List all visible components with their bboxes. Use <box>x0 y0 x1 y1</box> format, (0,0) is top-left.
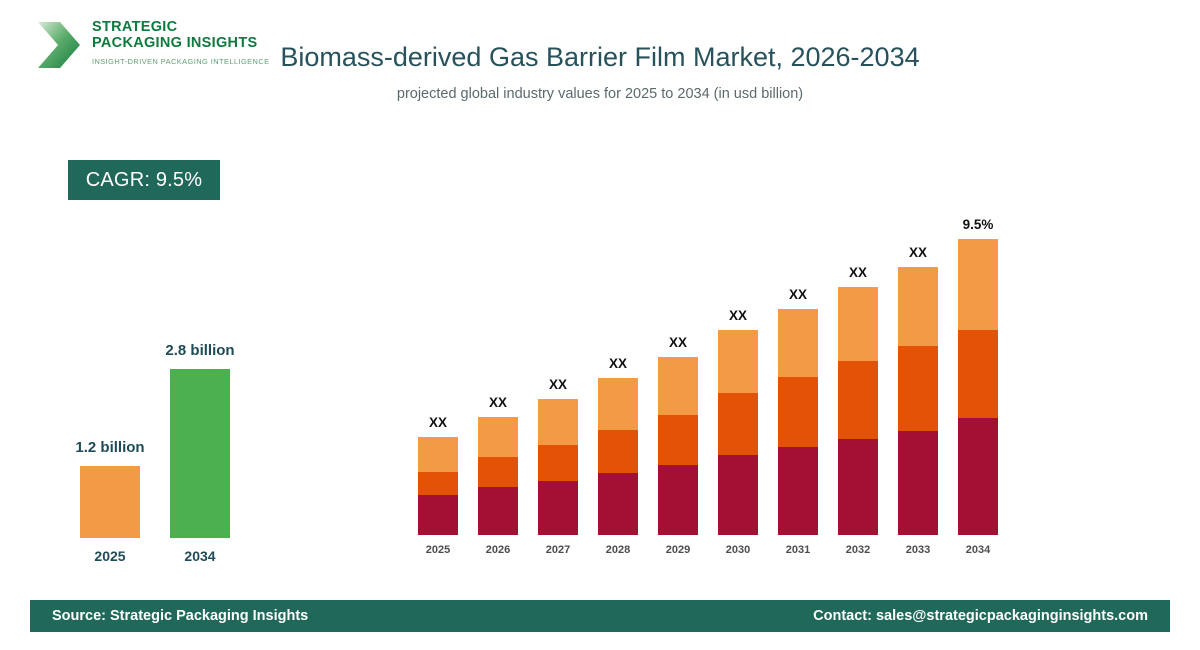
cagr-badge: CAGR: 9.5% <box>68 160 220 200</box>
stacked-bar-segment[interactable] <box>538 481 578 535</box>
comparison-value-label: 1.2 billion <box>40 439 180 456</box>
stacked-bar-segment[interactable] <box>958 418 998 535</box>
stacked-bar-segment[interactable] <box>598 430 638 473</box>
stacked-bar-segment[interactable] <box>478 417 518 457</box>
comparison-column <box>80 466 140 538</box>
stacked-bar-segment[interactable] <box>718 393 758 455</box>
stacked-bar-segment[interactable] <box>958 330 998 418</box>
page-title: Biomass-derived Gas Barrier Film Market,… <box>230 38 970 76</box>
stacked-bar-segment[interactable] <box>658 415 698 465</box>
stacked-bar-value-label: XX <box>468 395 528 410</box>
stacked-bar-year-label: 2032 <box>835 544 881 556</box>
stacked-bar-segment[interactable] <box>478 457 518 487</box>
stacked-bar-value-label: XX <box>648 335 708 350</box>
chevron-right-logo-icon <box>30 18 86 72</box>
comparison-bar[interactable] <box>80 466 140 538</box>
comparison-value-label: 2.8 billion <box>130 342 270 359</box>
stacked-bar-segment[interactable] <box>778 447 818 535</box>
stacked-bar-value-label: XX <box>828 265 888 280</box>
footer-bar: Source: Strategic Packaging Insights Con… <box>30 600 1170 632</box>
stacked-bar-chart: XX2025XX2026XX2027XX2028XX2029XX2030XX20… <box>400 200 1020 560</box>
stacked-bar-segment[interactable] <box>838 361 878 439</box>
stacked-bar-year-label: 2027 <box>535 544 581 556</box>
footer-contact: Contact: sales@strategicpackaginginsight… <box>813 600 1148 632</box>
stacked-bar-year-label: 2029 <box>655 544 701 556</box>
stacked-bar[interactable] <box>718 330 758 535</box>
stacked-bar-segment[interactable] <box>718 455 758 535</box>
stacked-bar-segment[interactable] <box>958 239 998 330</box>
stacked-bar-value-label: XX <box>588 356 648 371</box>
stacked-bar-segment[interactable] <box>538 399 578 445</box>
stacked-bar-value-label: XX <box>708 308 768 323</box>
stacked-bar-segment[interactable] <box>838 439 878 535</box>
footer-source: Source: Strategic Packaging Insights <box>52 600 308 632</box>
stacked-bar-segment[interactable] <box>898 431 938 535</box>
stacked-bar-year-label: 2033 <box>895 544 941 556</box>
stacked-bar-year-label: 2034 <box>955 544 1001 556</box>
stacked-bar-value-label: XX <box>408 415 468 430</box>
comparison-bar[interactable] <box>170 369 230 538</box>
stacked-bar-value-label: XX <box>888 245 948 260</box>
stacked-bar-segment[interactable] <box>778 377 818 447</box>
stacked-bar[interactable] <box>598 378 638 535</box>
page-subtitle: projected global industry values for 202… <box>230 86 970 102</box>
comparison-column <box>170 369 230 538</box>
stacked-bar-value-label: XX <box>768 287 828 302</box>
brand-logo: STRATEGIC PACKAGING INSIGHTS INSIGHT-DRI… <box>30 16 260 76</box>
stacked-bar-year-label: 2031 <box>775 544 821 556</box>
stacked-bar-year-label: 2028 <box>595 544 641 556</box>
stacked-bar-segment[interactable] <box>418 495 458 535</box>
stacked-bar-segment[interactable] <box>778 309 818 377</box>
stacked-bar-segment[interactable] <box>598 378 638 430</box>
stacked-bar[interactable] <box>838 287 878 535</box>
stacked-bar[interactable] <box>898 267 938 535</box>
stacked-bar[interactable] <box>778 309 818 535</box>
comparison-year-label: 2034 <box>170 548 230 564</box>
stacked-bar[interactable] <box>418 437 458 535</box>
stacked-bar[interactable] <box>538 399 578 535</box>
stacked-bar-segment[interactable] <box>598 473 638 535</box>
stacked-bar-year-label: 2025 <box>415 544 461 556</box>
stacked-bar-year-label: 2026 <box>475 544 521 556</box>
stacked-bar[interactable] <box>658 357 698 535</box>
comparison-bar-chart: 1.2 billion20252.8 billion2034 <box>40 300 290 570</box>
stacked-bar-segment[interactable] <box>898 346 938 431</box>
stacked-bar[interactable] <box>958 239 998 535</box>
stacked-bar-segment[interactable] <box>718 330 758 393</box>
stacked-bar-segment[interactable] <box>478 487 518 535</box>
stacked-bar-segment[interactable] <box>658 357 698 415</box>
brand-logo-line1: STRATEGIC <box>92 19 262 35</box>
stacked-bar-segment[interactable] <box>418 472 458 495</box>
comparison-year-label: 2025 <box>80 548 140 564</box>
stacked-bar-segment[interactable] <box>658 465 698 535</box>
stacked-bar-segment[interactable] <box>838 287 878 361</box>
stacked-bar-year-label: 2030 <box>715 544 761 556</box>
stacked-bar-segment[interactable] <box>538 445 578 481</box>
stacked-bar-segment[interactable] <box>418 437 458 472</box>
stacked-bar[interactable] <box>478 417 518 535</box>
stacked-bar-value-label: 9.5% <box>948 217 1008 232</box>
stacked-bar-value-label: XX <box>528 377 588 392</box>
stacked-bar-segment[interactable] <box>898 267 938 346</box>
title-block: Biomass-derived Gas Barrier Film Market,… <box>230 38 970 102</box>
